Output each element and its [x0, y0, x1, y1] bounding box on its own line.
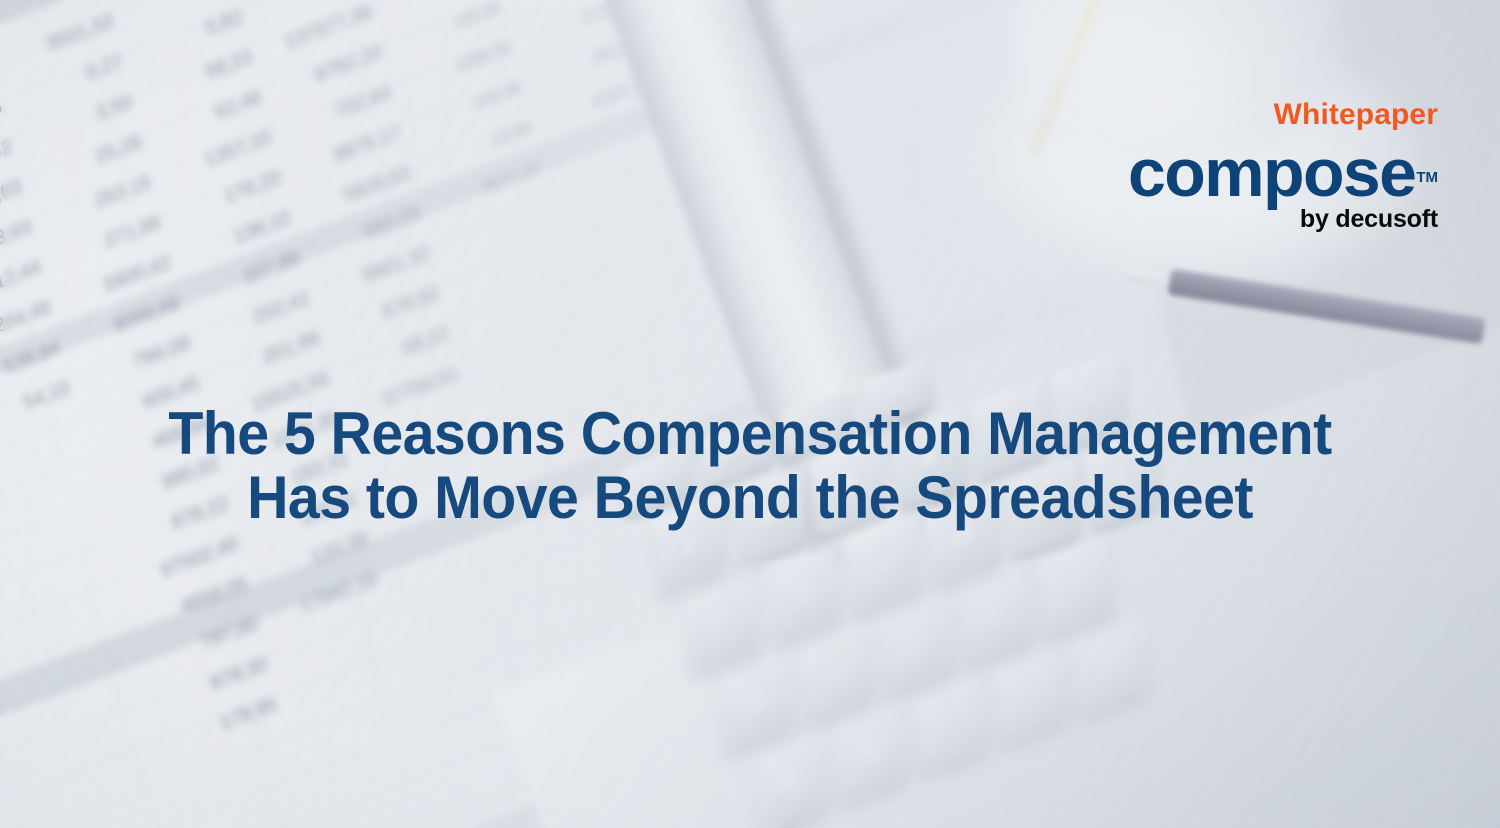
kicker-whitepaper: Whitepaper — [1128, 100, 1438, 130]
compose-logo: composeTM — [1128, 142, 1438, 205]
trademark-icon: TM — [1416, 169, 1438, 186]
title-line-1: The 5 Reasons Compensation Management — [34, 402, 1467, 466]
page-title: The 5 Reasons Compensation Management Ha… — [34, 402, 1467, 529]
title-line-2: Has to Move Beyond the Spreadsheet — [34, 466, 1467, 530]
compose-wordmark: compose — [1128, 142, 1415, 205]
whitepaper-cover: 188,07187,6814425,60995,45170,32123,9416… — [0, 0, 1500, 828]
brand-block: Whitepaper composeTM by decusoft — [1128, 100, 1438, 232]
